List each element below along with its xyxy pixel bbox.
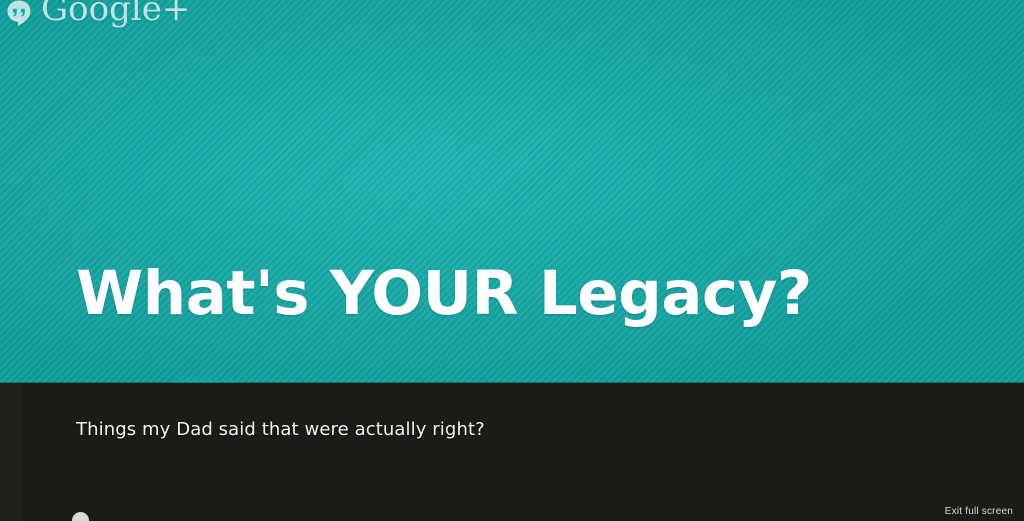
slide-dark-panel-left-edge xyxy=(0,383,22,521)
slide-title: What's YOUR Legacy? xyxy=(76,262,812,326)
slide-dark-panel xyxy=(0,383,1024,521)
hangout-fullscreen-video: What's YOUR Legacy? Things my Dad said t… xyxy=(0,0,1024,521)
slide-subtitle: Things my Dad said that were actually ri… xyxy=(76,419,485,440)
google-plus-wordmark: Google+ xyxy=(41,0,190,26)
exit-fullscreen-button[interactable]: Exit full screen xyxy=(942,504,1016,519)
google-plus-watermark: Google+ xyxy=(4,0,190,28)
hangouts-speech-bubble-icon xyxy=(4,0,34,28)
presentation-slide: What's YOUR Legacy? Things my Dad said t… xyxy=(0,0,1024,521)
